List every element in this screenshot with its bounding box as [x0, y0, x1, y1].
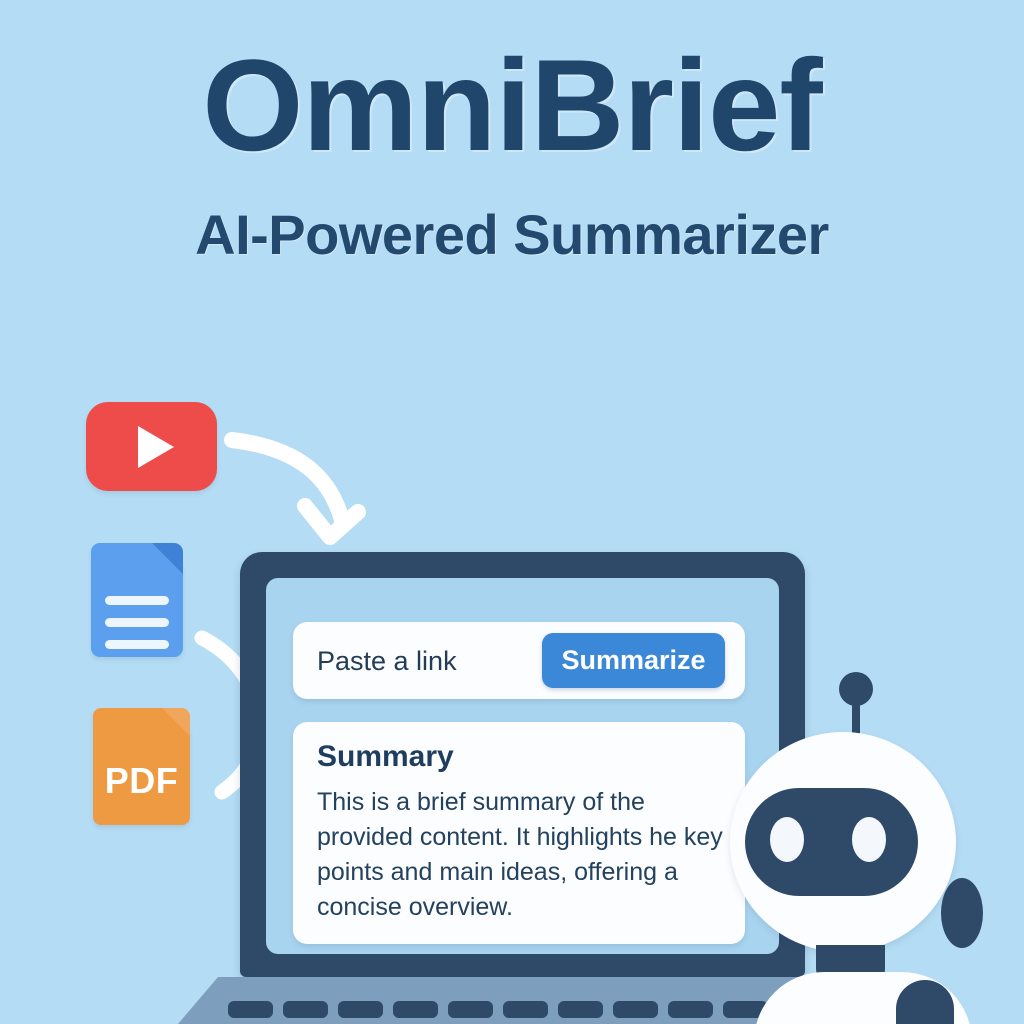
- document-fold-corner: [152, 543, 183, 574]
- pdf-source-icon[interactable]: PDF: [93, 708, 190, 825]
- summary-card: Summary This is a brief summary of the p…: [293, 722, 745, 944]
- robot-assistant: [740, 660, 1024, 1024]
- document-icon: [91, 543, 183, 657]
- document-text-line: [105, 618, 169, 627]
- youtube-source-icon[interactable]: [86, 402, 217, 491]
- summarize-button[interactable]: Summarize: [542, 633, 725, 688]
- poster-canvas: OmniBrief AI-Powered Summarizer PDF Past…: [0, 0, 1024, 1024]
- page-title: OmniBrief: [0, 40, 1024, 170]
- page-subtitle: AI-Powered Summarizer: [0, 202, 1024, 267]
- summary-text: This is a brief summary of the provided …: [317, 785, 729, 925]
- document-text-line: [105, 640, 169, 649]
- summary-heading: Summary: [317, 740, 454, 774]
- pdf-file-icon: PDF: [93, 708, 190, 825]
- pdf-label: PDF: [93, 760, 190, 802]
- robot-eye-left: [770, 817, 804, 862]
- document-source-icon[interactable]: [91, 543, 183, 657]
- link-input-card: Paste a link Summarize: [293, 622, 745, 699]
- robot-ear: [941, 878, 983, 948]
- link-input[interactable]: Paste a link: [317, 646, 457, 677]
- robot-eye-right: [852, 817, 886, 862]
- pdf-fold-corner: [162, 708, 190, 736]
- document-text-line: [105, 596, 169, 605]
- play-icon: [138, 426, 174, 468]
